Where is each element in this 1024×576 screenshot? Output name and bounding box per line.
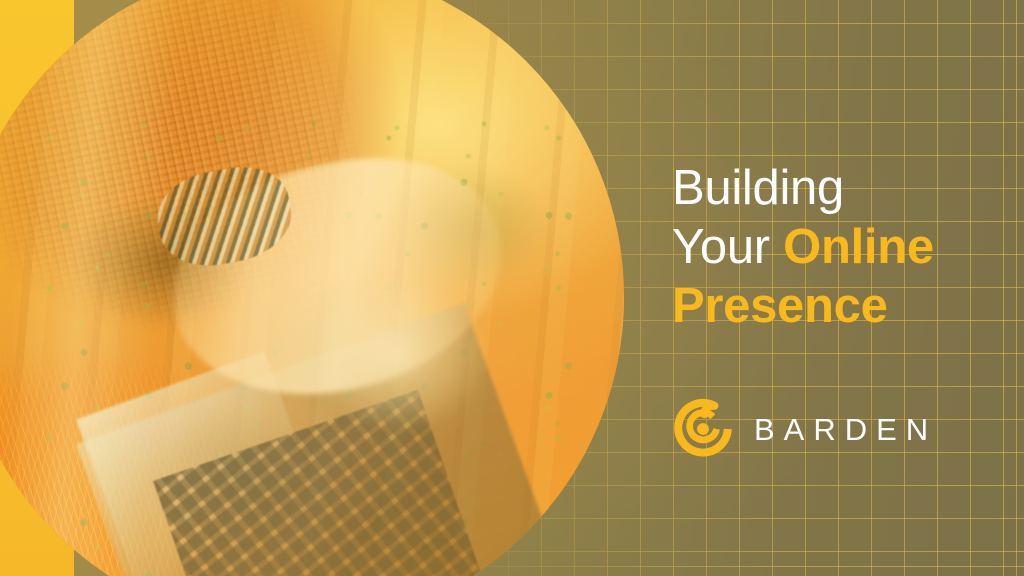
hero-photo [0,0,624,576]
hero-photo-circle [0,0,624,576]
brand-name: BARDEN [754,414,937,445]
headline-line1: Building [672,161,844,215]
brand-logo: BARDEN [672,398,937,460]
headline-line2-accent: Online [783,220,934,274]
barden-spiral-icon [672,398,734,460]
headline-line3-accent: Presence [672,279,888,333]
photo-layer-duotone [0,0,624,576]
page-title: BuildingYour OnlinePresence [672,159,1024,336]
title-slide: BuildingYour OnlinePresence BARDEN [0,0,1024,576]
headline-line2-plain: Your [672,220,783,274]
content-column: BuildingYour OnlinePresence BARDEN [672,0,1024,576]
